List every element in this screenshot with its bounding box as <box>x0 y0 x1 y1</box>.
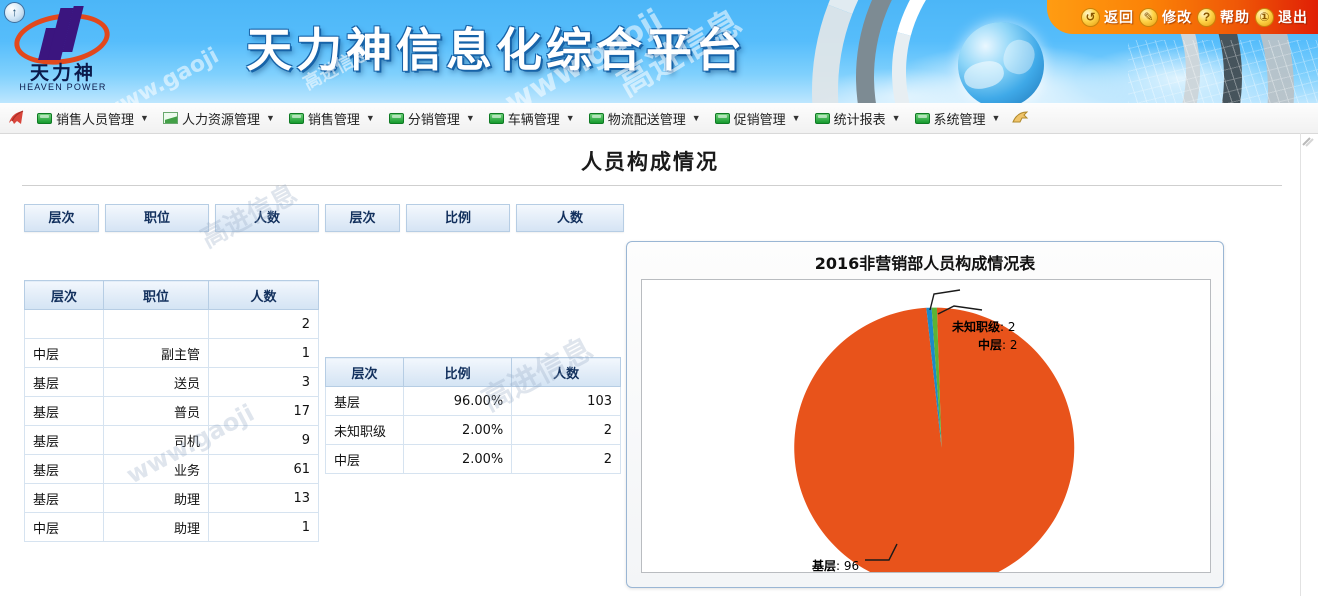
menu-item-vehicle[interactable]: 车辆管理 ▼ <box>482 103 582 133</box>
table-row[interactable]: 中层 助理 1 <box>25 513 319 542</box>
table-row[interactable]: 2 <box>25 310 319 339</box>
green-box-icon <box>389 113 404 124</box>
header-cell-level-2[interactable]: 层次 <box>325 204 400 232</box>
header-cell-level[interactable]: 层次 <box>24 204 99 232</box>
pie-label-weizhi: 未知职级: 2 <box>952 318 1016 335</box>
cell-level: 中层 <box>25 339 104 368</box>
col-count[interactable]: 人数 <box>512 358 621 387</box>
leader-line-weizhi <box>930 290 960 310</box>
header-cell-count-2[interactable]: 人数 <box>516 204 624 232</box>
chart-title: 2016非营销部人员构成情况表 <box>627 250 1223 274</box>
edit-icon: ✎ <box>1139 8 1158 27</box>
col-ratio[interactable]: 比例 <box>403 358 511 387</box>
chevron-down-icon: ▼ <box>140 113 149 123</box>
table-row[interactable]: 基层 96.00% 103 <box>326 387 621 416</box>
menu-label: 销售管理 <box>308 109 360 128</box>
scroll-tick-icon[interactable] <box>1302 136 1314 146</box>
menu-label: 分销管理 <box>408 109 460 128</box>
header-cell-count[interactable]: 人数 <box>215 204 319 232</box>
cell-level: 基层 <box>25 455 104 484</box>
pie-chart[interactable] <box>642 280 1210 572</box>
exit-button[interactable]: ① 退出 <box>1255 7 1308 27</box>
menu-label: 销售人员管理 <box>56 109 134 128</box>
cell-position: 普员 <box>104 397 209 426</box>
header-cell-position[interactable]: 职位 <box>105 204 209 232</box>
table-row[interactable]: 基层 司机 9 <box>25 426 319 455</box>
exit-label: 退出 <box>1278 7 1308 27</box>
cell-level <box>25 310 104 339</box>
cell-ratio: 2.00% <box>403 445 511 474</box>
menu-item-sales-staff[interactable]: 销售人员管理 ▼ <box>30 103 156 133</box>
menu-item-hr[interactable]: 人力资源管理 ▼ <box>156 103 282 133</box>
header-cell-ratio[interactable]: 比例 <box>406 204 510 232</box>
menu-label: 统计报表 <box>834 109 886 128</box>
cell-count: 2 <box>209 310 319 339</box>
green-box-icon <box>915 113 930 124</box>
help-icon: ? <box>1197 8 1216 27</box>
logo-chinese-name: 天力神 <box>18 58 108 85</box>
cell-count: 61 <box>209 455 319 484</box>
back-icon: ↺ <box>1081 8 1100 27</box>
green-box-icon <box>289 113 304 124</box>
pie-label-jiceng: 基层: 96 <box>812 557 859 574</box>
chevron-down-icon: ▼ <box>466 113 475 123</box>
cell-position: 副主管 <box>104 339 209 368</box>
green-box-icon <box>589 113 604 124</box>
cell-count: 1 <box>209 339 319 368</box>
edit-label: 修改 <box>1162 7 1192 27</box>
menu-label: 人力资源管理 <box>182 109 260 128</box>
chevron-down-icon: ▼ <box>992 113 1001 123</box>
chart-plot-area: 未知职级: 2 中层: 2 <box>641 279 1211 573</box>
chevron-down-icon: ▼ <box>792 113 801 123</box>
cell-count: 9 <box>209 426 319 455</box>
cell-level: 基层 <box>25 484 104 513</box>
table-row[interactable]: 基层 普员 17 <box>25 397 319 426</box>
globe-graphic <box>958 22 1044 103</box>
back-label: 返回 <box>1104 7 1134 27</box>
cell-count: 1 <box>209 513 319 542</box>
help-button[interactable]: ? 帮助 <box>1197 7 1250 27</box>
table-row[interactable]: 中层 副主管 1 <box>25 339 319 368</box>
chevron-down-icon: ▼ <box>892 113 901 123</box>
back-button[interactable]: ↺ 返回 <box>1081 7 1134 27</box>
menu-item-distribution[interactable]: 分销管理 ▼ <box>382 103 482 133</box>
menu-item-logistics[interactable]: 物流配送管理 ▼ <box>582 103 708 133</box>
cell-count: 2 <box>512 445 621 474</box>
cell-ratio: 96.00% <box>403 387 511 416</box>
green-box-icon <box>37 113 52 124</box>
table-header-row: 层次 职位 人数 <box>25 281 319 310</box>
back-arrow-icon[interactable] <box>0 103 30 133</box>
chevron-down-icon: ▼ <box>366 113 375 123</box>
cell-position: 司机 <box>104 426 209 455</box>
cell-count: 3 <box>209 368 319 397</box>
table-header-row: 层次 比例 人数 <box>326 358 621 387</box>
chevron-down-icon: ▼ <box>566 113 575 123</box>
page-title: 人员构成情况 <box>0 146 1300 176</box>
main-menu-bar: 销售人员管理 ▼ 人力资源管理 ▼ 销售管理 ▼ 分销管理 ▼ 车辆管理 ▼ 物… <box>0 103 1318 134</box>
title-divider <box>22 185 1282 186</box>
cell-level: 基层 <box>326 387 404 416</box>
table-row[interactable]: 未知职级 2.00% 2 <box>326 416 621 445</box>
chevron-down-icon: ▼ <box>692 113 701 123</box>
right-divider <box>1300 133 1301 596</box>
cell-level: 基层 <box>25 426 104 455</box>
help-label: 帮助 <box>1220 7 1250 27</box>
menu-label: 物流配送管理 <box>608 109 686 128</box>
table-row[interactable]: 中层 2.00% 2 <box>326 445 621 474</box>
header-strip-left: 层次 职位 人数 <box>24 204 319 232</box>
collapse-up-icon[interactable]: ↑ <box>4 2 25 23</box>
col-level[interactable]: 层次 <box>25 281 104 310</box>
green-box-icon <box>815 113 830 124</box>
menu-item-sales[interactable]: 销售管理 ▼ <box>282 103 382 133</box>
cell-position: 助理 <box>104 484 209 513</box>
menu-item-system[interactable]: 系统管理 ▼ <box>908 103 1008 133</box>
cell-count: 17 <box>209 397 319 426</box>
cell-level: 中层 <box>326 445 404 474</box>
leader-line-jiceng-outer <box>863 538 903 568</box>
menu-label: 系统管理 <box>934 109 986 128</box>
green-box-icon <box>715 113 730 124</box>
toolbar-actions: ↺ 返回 ✎ 修改 ? 帮助 ① 退出 <box>1047 0 1318 34</box>
table-row[interactable]: 基层 业务 61 <box>25 455 319 484</box>
pie-label-zhongceng: 中层: 2 <box>978 336 1018 353</box>
exit-icon: ① <box>1255 8 1274 27</box>
menu-item-promotion[interactable]: 促销管理 ▼ <box>708 103 808 133</box>
company-logo: 天力神 HEAVEN POWER <box>10 6 114 98</box>
cell-level: 基层 <box>25 397 104 426</box>
ratio-table: 层次 比例 人数 基层 96.00% 103 未知职级 2.00% 2 中层 2… <box>325 357 621 474</box>
logo-english-name: HEAVEN POWER <box>18 82 108 92</box>
col-level[interactable]: 层次 <box>326 358 404 387</box>
menu-item-reports[interactable]: 统计报表 ▼ <box>808 103 908 133</box>
cell-count: 13 <box>209 484 319 513</box>
chevron-down-icon: ▼ <box>266 113 275 123</box>
menu-label: 车辆管理 <box>508 109 560 128</box>
green-box-icon <box>489 113 504 124</box>
decor-grid-lines <box>1128 40 1318 103</box>
table-row[interactable]: 基层 送员 3 <box>25 368 319 397</box>
hr-chart-icon <box>163 112 178 124</box>
cell-level: 中层 <box>25 513 104 542</box>
cell-level: 基层 <box>25 368 104 397</box>
position-table: 层次 职位 人数 2 中层 副主管 1 基层 送员 3 基层 普员 17 基层 … <box>24 280 319 542</box>
app-banner: 天力神 HEAVEN POWER 天力神信息化综合平台 ↑ www.gaoji … <box>0 0 1318 103</box>
cell-level: 未知职级 <box>326 416 404 445</box>
cell-count: 103 <box>512 387 621 416</box>
platform-title: 天力神信息化综合平台 <box>246 14 746 80</box>
cell-position: 业务 <box>104 455 209 484</box>
cell-position <box>104 310 209 339</box>
forward-arrow-icon[interactable] <box>1007 103 1033 133</box>
header-strip-right: 层次 比例 人数 <box>325 204 624 232</box>
edit-button[interactable]: ✎ 修改 <box>1139 7 1192 27</box>
table-row[interactable]: 基层 助理 13 <box>25 484 319 513</box>
cell-position: 助理 <box>104 513 209 542</box>
chart-panel: 2016非营销部人员构成情况表 未知职级: 2 中层: 2 基层: 96 <box>626 241 1224 588</box>
cell-ratio: 2.00% <box>403 416 511 445</box>
menu-label: 促销管理 <box>734 109 786 128</box>
cell-count: 2 <box>512 416 621 445</box>
col-count[interactable]: 人数 <box>209 281 319 310</box>
col-position[interactable]: 职位 <box>104 281 209 310</box>
cell-position: 送员 <box>104 368 209 397</box>
